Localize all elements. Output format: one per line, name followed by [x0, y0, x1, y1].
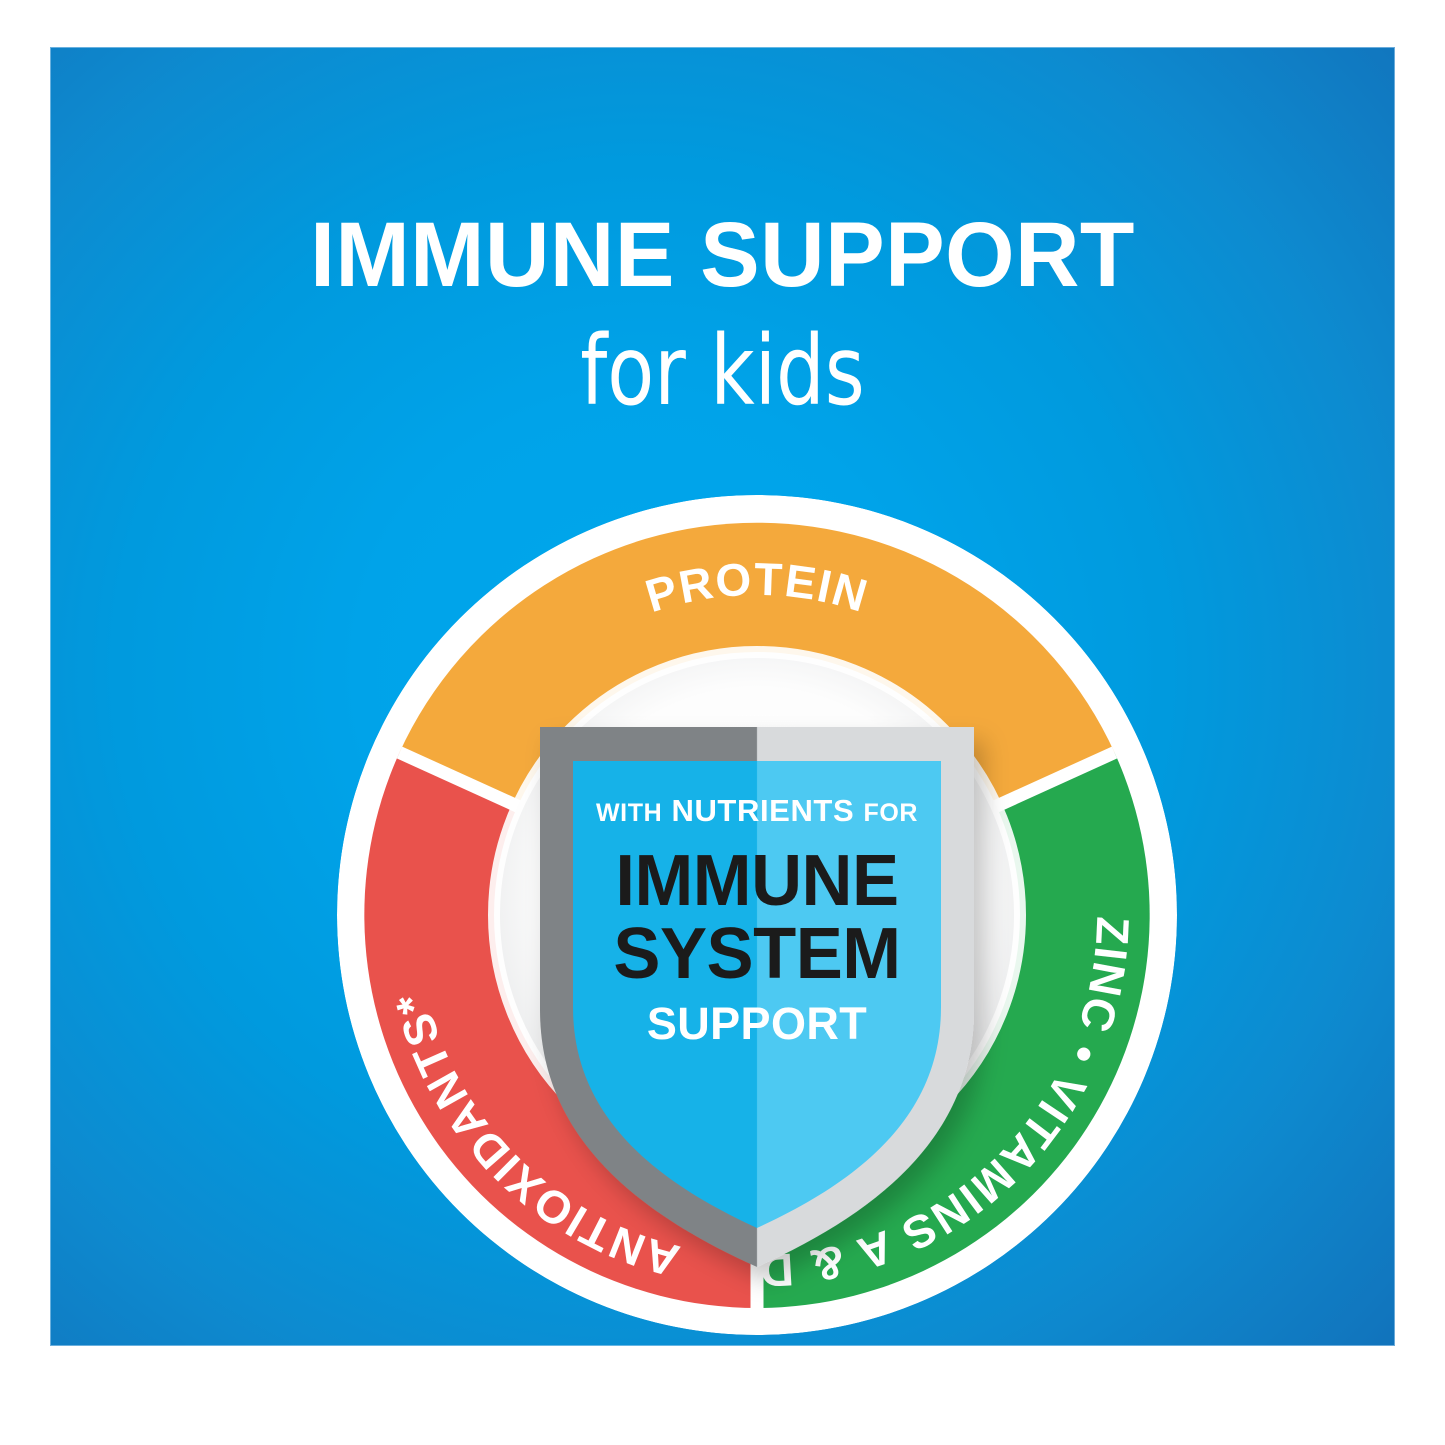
- page-subtitle: for kids: [185, 323, 1261, 419]
- immune-badge: PROTEIN ANTIOXIDANTS* ZINC • VITAMINS A …: [337, 495, 1177, 1335]
- page-title: IMMUNE SUPPORT: [70, 209, 1375, 301]
- blue-gradient-panel: IMMUNE SUPPORT for kids: [50, 47, 1395, 1346]
- headline-block: IMMUNE SUPPORT for kids: [50, 209, 1395, 419]
- immune-support-graphic: IMMUNE SUPPORT for kids: [0, 0, 1445, 1445]
- footnote-text: * Vitamins C and E and selenium.: [130, 1363, 739, 1413]
